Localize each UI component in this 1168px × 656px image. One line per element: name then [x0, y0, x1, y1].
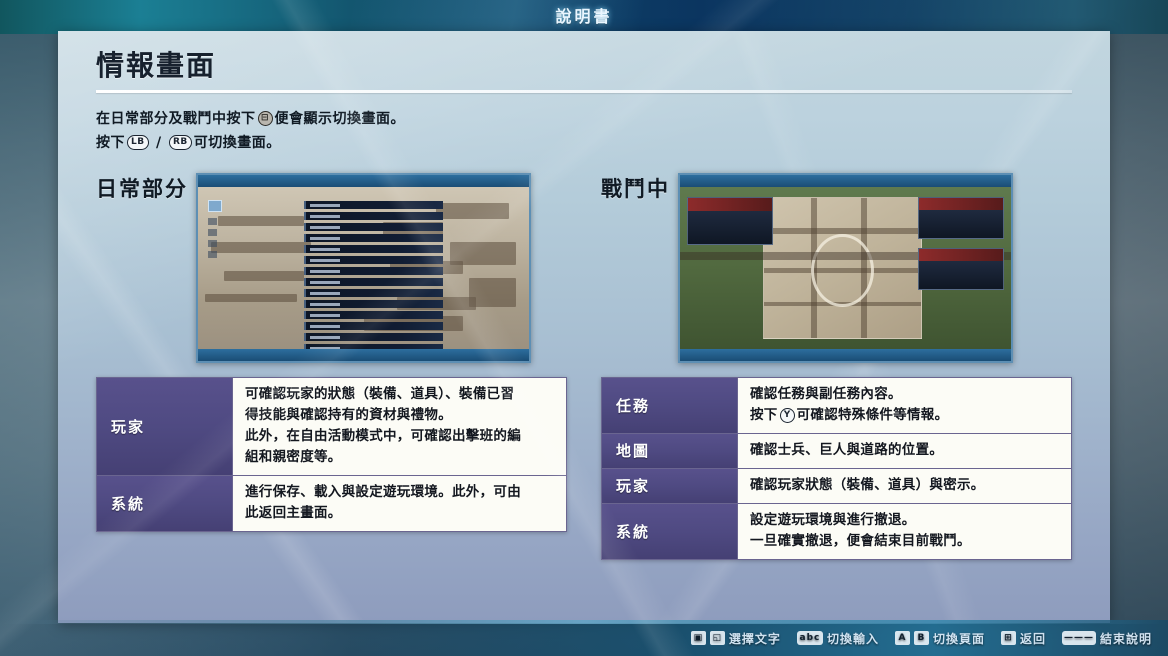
- game-manual-screen: 說明書 情報畫面 在日常部分及戰鬥中按下 ⊟ 便會顯示切換畫面。 按下 LB /…: [0, 0, 1168, 656]
- row-desc-map: 確認士兵、巨人與道路的位置。: [738, 434, 1071, 468]
- hint-item[interactable]: A B 切換頁面: [895, 630, 985, 647]
- battle-right-panel-2: [918, 248, 1004, 290]
- section-daily-life-header: 日常部分: [96, 173, 188, 207]
- desc-line-with-button: 按下 Y 可確認特殊條件等情報。: [750, 405, 1061, 426]
- daily-life-info-screenshot: [196, 173, 531, 363]
- intro-line-2: 按下 LB / RB 可切換畫面。: [96, 131, 1072, 155]
- title-divider: [96, 90, 1072, 93]
- row-label-system: 系統: [602, 504, 738, 559]
- desc-line: 確認玩家狀態（裝備、道具）與密示。: [750, 475, 1061, 496]
- screenshot-menu-list: [304, 201, 443, 355]
- desc-after-button: 可確認特殊條件等情報。: [797, 405, 949, 426]
- row-label-map: 地圖: [602, 434, 738, 468]
- intro-line-2-separator: /: [151, 131, 167, 155]
- intro-line-1-after: 便會顯示切換畫面。: [275, 107, 406, 131]
- button-hint-bar: ▣ ◱ 選擇文字 abc 切換輸入 A B 切換頁面 ⊞ 返回 ——— 結束說明: [0, 620, 1168, 656]
- desc-line: 一旦確實撤退，便會結束目前戰鬥。: [750, 531, 1061, 552]
- section-daily-life: 日常部分: [96, 173, 567, 560]
- screenshot-bottom-hud: [198, 349, 529, 361]
- intro-line-1: 在日常部分及戰鬥中按下 ⊟ 便會顯示切換畫面。: [96, 107, 1072, 131]
- menu-button-icon: ———: [1062, 631, 1096, 645]
- a-button-icon: A: [895, 631, 910, 645]
- row-label-mission: 任務: [602, 378, 738, 433]
- map-wall-ring: [811, 234, 874, 307]
- row-label-system: 系統: [97, 476, 233, 531]
- hint-label: 選擇文字: [729, 630, 781, 647]
- hint-label: 結束說明: [1100, 630, 1152, 647]
- intro-line-1-before: 在日常部分及戰鬥中按下: [96, 107, 256, 131]
- table-row: 系統 設定遊玩環境與進行撤退。 一旦確實撤退，便會結束目前戰鬥。: [602, 504, 1071, 559]
- battle-map-image: [680, 187, 1011, 349]
- map-city-area: [763, 197, 922, 340]
- row-desc-mission: 確認任務與副任務內容。 按下 Y 可確認特殊條件等情報。: [738, 378, 1071, 433]
- window-title: 說明書: [0, 0, 1168, 34]
- row-desc-player: 可確認玩家的狀態（裝備、道具）、裝備已習 得技能與確認持有的資材與禮物。 此外，…: [233, 378, 566, 475]
- hint-label: 切換頁面: [933, 630, 985, 647]
- table-row: 任務 確認任務與副任務內容。 按下 Y 可確認特殊條件等情報。: [602, 378, 1071, 434]
- desc-line: 組和親密度等。: [245, 447, 556, 468]
- hint-item[interactable]: abc 切換輸入: [797, 630, 879, 647]
- table-row: 玩家 可確認玩家的狀態（裝備、道具）、裝備已習 得技能與確認持有的資材與禮物。 …: [97, 378, 566, 476]
- hint-item[interactable]: ▣ ◱ 選擇文字: [691, 630, 781, 647]
- b-button-icon: B: [914, 631, 929, 645]
- row-label-player: 玩家: [97, 378, 233, 475]
- y-button-icon: Y: [780, 408, 795, 423]
- stick-icon: ◱: [710, 631, 725, 645]
- lb-button-icon: LB: [127, 135, 149, 150]
- window-titlebar: 說明書: [0, 0, 1168, 34]
- hint-item[interactable]: ⊞ 返回: [1001, 630, 1046, 647]
- desc-line: 可確認玩家的狀態（裝備、道具）、裝備已習: [245, 384, 556, 405]
- desc-before-button: 按下: [750, 405, 778, 426]
- dpad-icon: ▣: [691, 631, 706, 645]
- desc-line: 確認士兵、巨人與道路的位置。: [750, 440, 1061, 461]
- table-row: 系統 進行保存、載入與設定遊玩環境。此外，可由 此返回主畫面。: [97, 476, 566, 531]
- intro-line-2-after: 可切換畫面。: [194, 131, 281, 155]
- row-desc-system: 設定遊玩環境與進行撤退。 一旦確實撤退，便會結束目前戰鬥。: [738, 504, 1071, 559]
- hint-item[interactable]: ——— 結束說明: [1062, 630, 1152, 647]
- desc-line: 得技能與確認持有的資材與禮物。: [245, 405, 556, 426]
- row-desc-player: 確認玩家狀態（裝備、道具）與密示。: [738, 469, 1071, 503]
- view-button-icon: ⊟: [258, 111, 273, 126]
- abc-icon: abc: [797, 631, 823, 645]
- desc-line: 此外，在自由活動模式中，可確認出擊班的編: [245, 426, 556, 447]
- hint-label: 切換輸入: [827, 630, 879, 647]
- screenshot-hud-sidebar: [208, 200, 234, 262]
- intro-line-2-before: 按下: [96, 131, 125, 155]
- battle-left-panel: [687, 197, 773, 246]
- screenshot-bottom-hud: [680, 349, 1011, 361]
- desc-line: 此返回主畫面。: [245, 503, 556, 524]
- screenshot-top-hud: [680, 175, 1011, 187]
- section-battle-header: 戰鬥中: [601, 173, 670, 207]
- page-title: 情報畫面: [96, 51, 1072, 90]
- rb-button-icon: RB: [169, 135, 192, 150]
- screenshot-top-hud: [198, 175, 529, 187]
- battle-info-screenshot: [678, 173, 1013, 363]
- desc-line: 確認任務與副任務內容。: [750, 384, 1061, 405]
- daily-life-info-table: 玩家 可確認玩家的狀態（裝備、道具）、裝備已習 得技能與確認持有的資材與禮物。 …: [96, 377, 567, 532]
- intro-text: 在日常部分及戰鬥中按下 ⊟ 便會顯示切換畫面。 按下 LB / RB 可切換畫面…: [96, 107, 1072, 155]
- table-row: 地圖 確認士兵、巨人與道路的位置。: [602, 434, 1071, 469]
- section-daily-life-label: 日常部分: [96, 173, 188, 203]
- table-row: 玩家 確認玩家狀態（裝備、道具）與密示。: [602, 469, 1071, 504]
- manual-page: 情報畫面 在日常部分及戰鬥中按下 ⊟ 便會顯示切換畫面。 按下 LB / RB …: [58, 31, 1110, 623]
- section-battle-label: 戰鬥中: [601, 173, 670, 203]
- section-battle: 戰鬥中: [601, 173, 1072, 560]
- hint-label: 返回: [1020, 630, 1046, 647]
- back-button-icon: ⊞: [1001, 631, 1016, 645]
- desc-line: 設定遊玩環境與進行撤退。: [750, 510, 1061, 531]
- sections-container: 日常部分: [96, 173, 1072, 560]
- row-label-player: 玩家: [602, 469, 738, 503]
- desc-line: 進行保存、載入與設定遊玩環境。此外，可由: [245, 482, 556, 503]
- battle-info-table: 任務 確認任務與副任務內容。 按下 Y 可確認特殊條件等情報。: [601, 377, 1072, 560]
- battle-right-panel-1: [918, 197, 1004, 239]
- row-desc-system: 進行保存、載入與設定遊玩環境。此外，可由 此返回主畫面。: [233, 476, 566, 531]
